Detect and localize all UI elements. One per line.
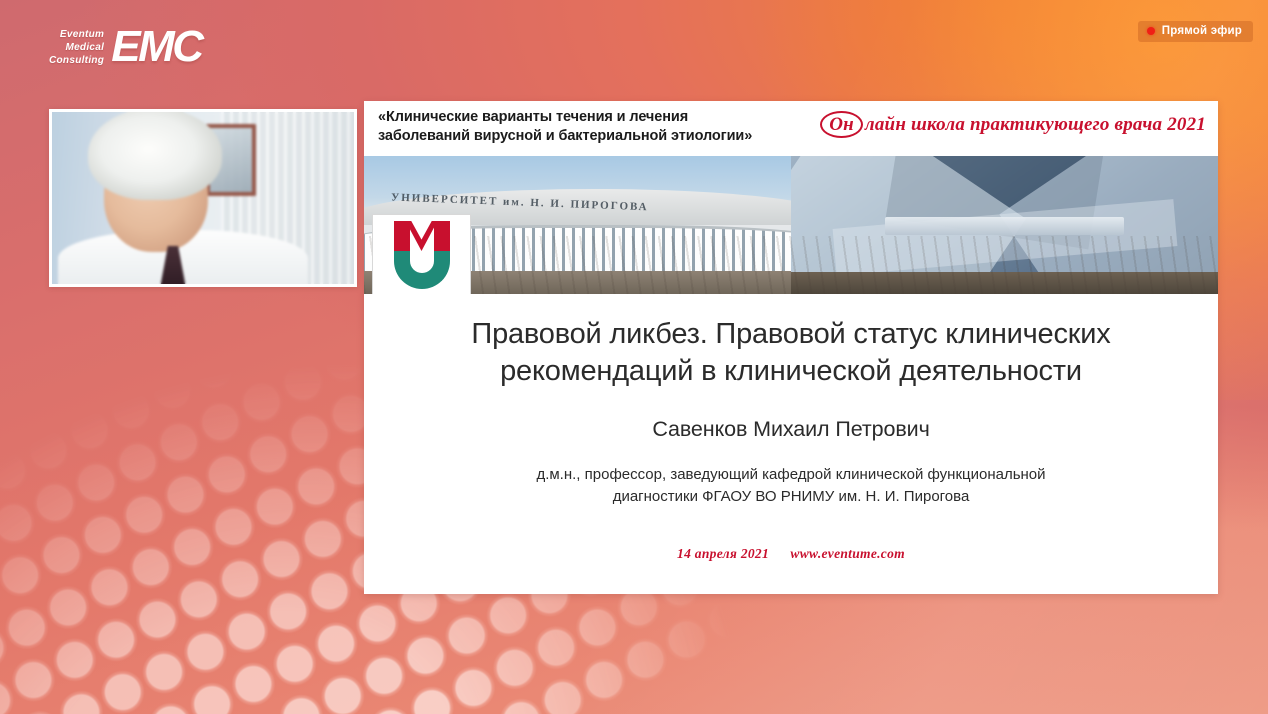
- slide-header: «Клинические варианты течения и лечения …: [364, 101, 1218, 156]
- logo-u-arc: [394, 251, 450, 289]
- brand-line-1: Eventum: [60, 28, 104, 41]
- slide-header-school-title: Он лайн школа практикующего врача 2021: [820, 108, 1206, 138]
- university-logo-text: ФГАОУ ВО РНИМУ им. Н.И. Пирогова: [386, 292, 457, 294]
- slide-footer: 14 апреля 2021 www.eventume.com: [410, 546, 1172, 562]
- live-badge: Прямой эфир: [1138, 21, 1253, 42]
- webcam-softening: [52, 112, 354, 284]
- brand-emc-mark: EMC: [111, 27, 201, 67]
- brand-line-2: Medical: [65, 41, 104, 54]
- slide-title-line2: рекомендаций в клинической деятельности: [410, 353, 1172, 390]
- slide-footer-date: 14 апреля 2021: [677, 546, 769, 561]
- slide-footer-url: www.eventume.com: [790, 546, 905, 561]
- university-logo-mark: [391, 221, 453, 289]
- mural-signage: [885, 217, 1124, 235]
- slide-banner-photo: УНИВЕРСИТЕТ им. Н. И. ПИРОГОВА: [364, 156, 1218, 294]
- slide-body: Правовой ликбез. Правовой статус клиниче…: [364, 294, 1218, 562]
- slide-speaker-credentials: д.м.н., профессор, заведующий кафедрой к…: [410, 464, 1172, 508]
- school-on-badge: Он: [820, 111, 863, 138]
- credentials-line2: диагностики ФГАОУ ВО РНИМУ им. Н. И. Пир…: [410, 486, 1172, 508]
- speaker-video-frame: [52, 112, 354, 284]
- university-logo-line1: ФГАОУ ВО РНИМУ: [386, 292, 457, 294]
- school-title-rest: лайн школа практикующего врача 2021: [865, 114, 1206, 136]
- live-badge-label: Прямой эфир: [1162, 25, 1242, 37]
- banner-tree-branches: [364, 236, 1218, 294]
- brand-line-3: Consulting: [49, 54, 104, 67]
- slide-title: Правовой ликбез. Правовой статус клиниче…: [410, 316, 1172, 390]
- presentation-slide[interactable]: «Клинические варианты течения и лечения …: [364, 101, 1218, 594]
- credentials-line1: д.м.н., профессор, заведующий кафедрой к…: [410, 464, 1172, 486]
- slide-header-quote-line1: «Клинические варианты течения и лечения: [378, 108, 752, 127]
- live-dot-icon: [1147, 27, 1155, 35]
- slide-title-line1: Правовой ликбез. Правовой статус клиниче…: [410, 316, 1172, 353]
- slide-header-quote-line2: заболеваний вирусной и бактериальной эти…: [378, 127, 752, 146]
- brand-logo: Eventum Medical Consulting EMC: [49, 27, 202, 67]
- slide-header-quote: «Клинические варианты течения и лечения …: [378, 108, 752, 146]
- university-logo: ФГАОУ ВО РНИМУ им. Н.И. Пирогова: [372, 214, 471, 294]
- stream-stage: Eventum Medical Consulting EMC Прямой эф…: [0, 0, 1268, 714]
- speaker-video-tile[interactable]: [49, 109, 357, 287]
- brand-wordmark-lines: Eventum Medical Consulting: [49, 28, 104, 67]
- slide-speaker-name: Савенков Михаил Петрович: [410, 417, 1172, 442]
